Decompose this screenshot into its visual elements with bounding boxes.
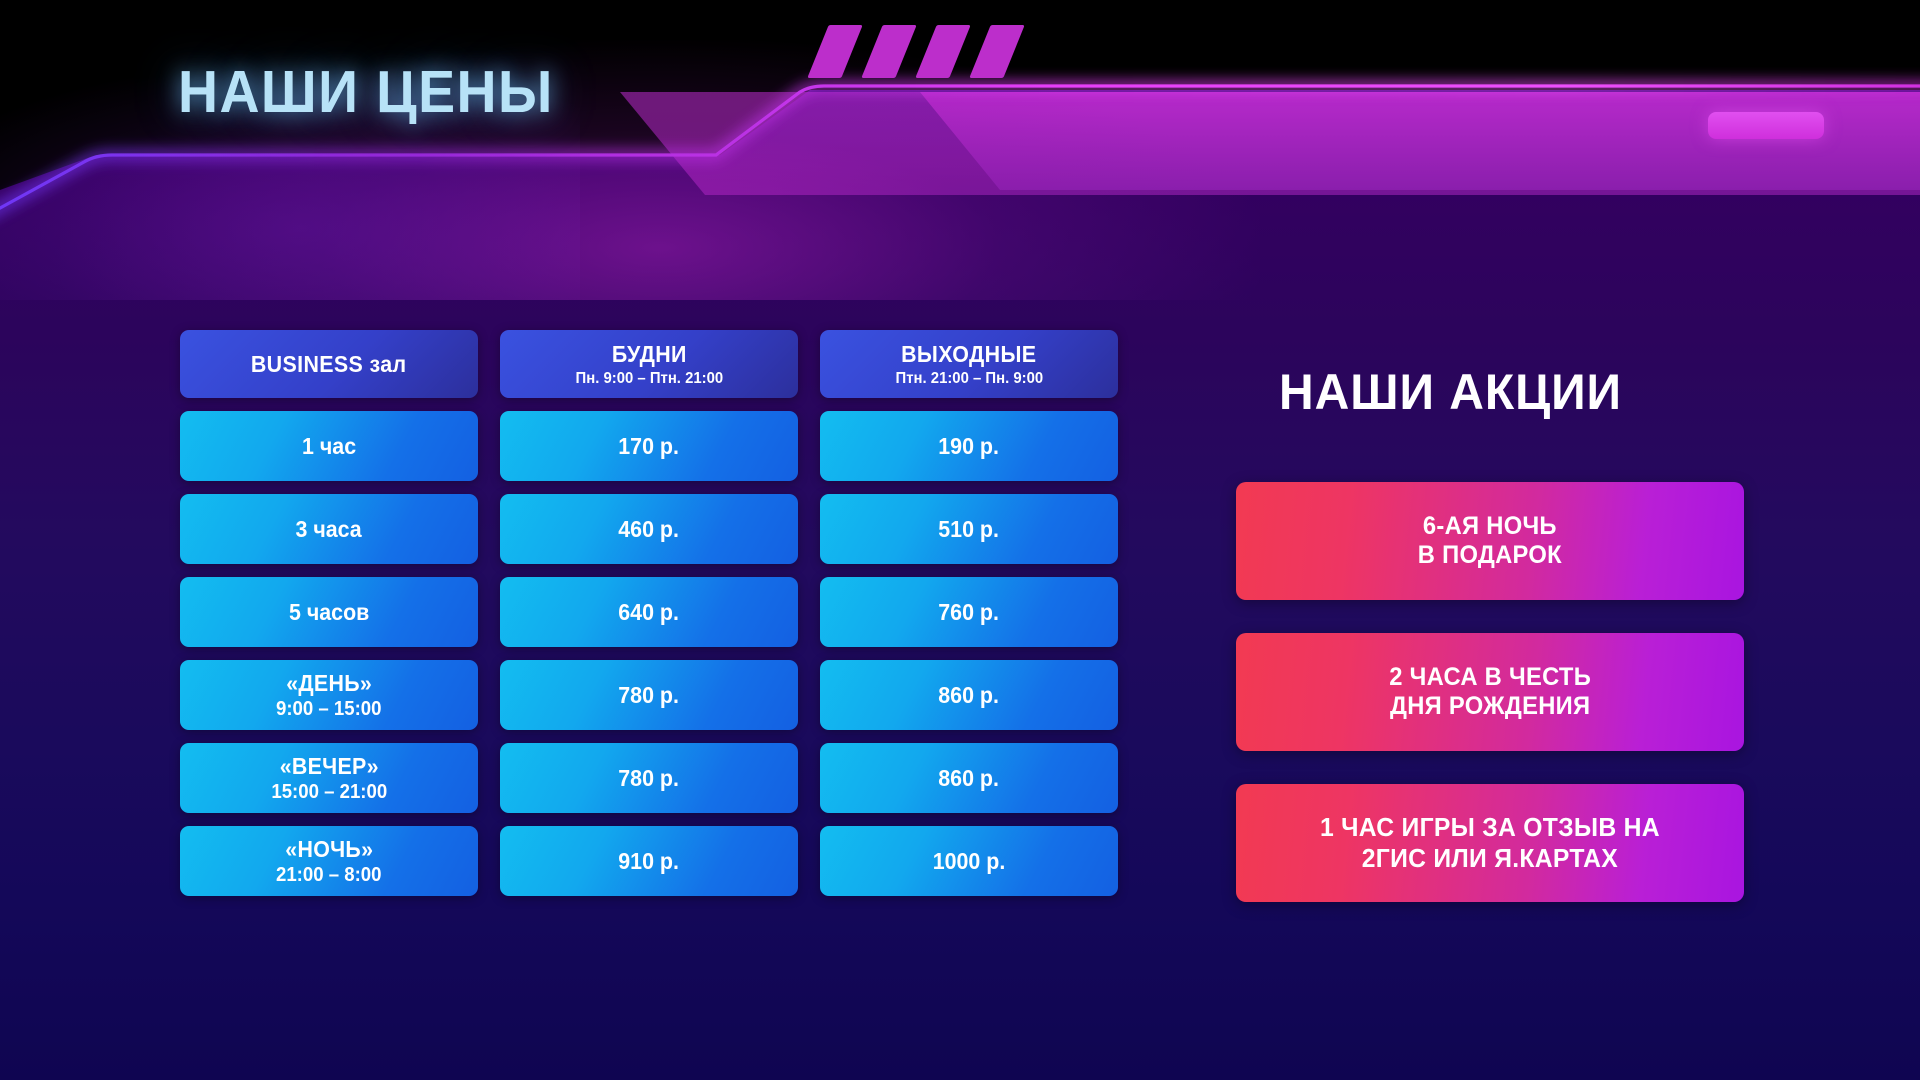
table-row: «ВЕЧЕР» 15:00 – 21:00 780 р. 860 р. bbox=[180, 743, 1115, 813]
row-label-cell: 1 час bbox=[180, 411, 478, 481]
grid-gap bbox=[798, 411, 820, 481]
row-label-time: 15:00 – 21:00 bbox=[271, 781, 387, 804]
row-weekday-price: 780 р. bbox=[619, 765, 680, 792]
row-weekday-price: 170 р. bbox=[619, 433, 680, 460]
row-weekend-cell: 760 р. bbox=[820, 577, 1118, 647]
row-label-time: 21:00 – 8:00 bbox=[276, 864, 381, 887]
row-weekend-price: 860 р. bbox=[939, 765, 1000, 792]
row-weekday-cell: 910 р. bbox=[500, 826, 798, 896]
grid-gap bbox=[478, 660, 500, 730]
grid-gap bbox=[798, 330, 820, 398]
grid-gap bbox=[798, 660, 820, 730]
promo-card-text: 2 ЧАСА В ЧЕСТЬ ДНЯ РОЖДЕНИЯ bbox=[1389, 663, 1591, 722]
grid-gap bbox=[798, 826, 820, 896]
row-weekday-cell: 780 р. bbox=[500, 743, 798, 813]
row-weekday-price: 460 р. bbox=[619, 516, 680, 543]
row-weekend-price: 860 р. bbox=[939, 682, 1000, 709]
row-label: «ВЕЧЕР» bbox=[279, 753, 378, 780]
promo-card: 1 ЧАС ИГРЫ ЗА ОТЗЫВ НА 2ГИС ИЛИ Я.КАРТАХ bbox=[1236, 784, 1744, 902]
row-label-cell: «НОЧЬ» 21:00 – 8:00 bbox=[180, 826, 478, 896]
grid-gap bbox=[478, 743, 500, 813]
table-row: «НОЧЬ» 21:00 – 8:00 910 р. 1000 р. bbox=[180, 826, 1115, 896]
promotions-list: 6-АЯ НОЧЬ В ПОДАРОК 2 ЧАСА В ЧЕСТЬ ДНЯ Р… bbox=[1236, 482, 1744, 935]
table-row: 5 часов 640 р. 760 р. bbox=[180, 577, 1115, 647]
header-cell-hall: BUSINESS зал bbox=[180, 330, 478, 398]
decor-stripe-icon bbox=[969, 25, 1024, 78]
grid-gap bbox=[478, 577, 500, 647]
grid-gap bbox=[798, 743, 820, 813]
row-weekend-price: 190 р. bbox=[939, 433, 1000, 460]
row-label-cell: 3 часа bbox=[180, 494, 478, 564]
row-weekday-price: 780 р. bbox=[619, 682, 680, 709]
row-label: 1 час bbox=[302, 433, 356, 460]
row-weekend-price: 510 р. bbox=[939, 516, 1000, 543]
price-table: BUSINESS зал БУДНИ Пн. 9:00 – Птн. 21:00… bbox=[180, 330, 1115, 909]
table-row: 3 часа 460 р. 510 р. bbox=[180, 494, 1115, 564]
row-label: 5 часов bbox=[289, 599, 369, 626]
grid-gap bbox=[798, 577, 820, 647]
grid-gap bbox=[478, 411, 500, 481]
decor-stripe-icon bbox=[807, 25, 862, 78]
row-weekday-cell: 780 р. bbox=[500, 660, 798, 730]
decor-stripe-icon bbox=[861, 25, 916, 78]
decor-stripe-icon bbox=[915, 25, 970, 78]
grid-gap bbox=[478, 494, 500, 564]
row-weekend-price: 1000 р. bbox=[933, 848, 1006, 875]
pricing-poster: НАШИ ЦЕНЫ BUSINESS зал БУДНИ Пн. 9:00 – … bbox=[0, 0, 1920, 1080]
header-hall-label: BUSINESS зал bbox=[251, 351, 407, 378]
row-weekend-cell: 190 р. bbox=[820, 411, 1118, 481]
header-weekday-hours: Пн. 9:00 – Птн. 21:00 bbox=[575, 370, 723, 388]
header-cell-weekend: ВЫХОДНЫЕ Птн. 21:00 – Пн. 9:00 bbox=[820, 330, 1118, 398]
row-label: 3 часа bbox=[296, 516, 362, 543]
header-weekday-label: БУДНИ bbox=[612, 341, 687, 368]
row-label-cell: 5 часов bbox=[180, 577, 478, 647]
table-row: 1 час 170 р. 190 р. bbox=[180, 411, 1115, 481]
row-label-cell: «ВЕЧЕР» 15:00 – 21:00 bbox=[180, 743, 478, 813]
row-weekend-cell: 1000 р. bbox=[820, 826, 1118, 896]
row-weekday-cell: 460 р. bbox=[500, 494, 798, 564]
row-weekend-price: 760 р. bbox=[939, 599, 1000, 626]
row-label: «ДЕНЬ» bbox=[286, 670, 372, 697]
promo-card: 6-АЯ НОЧЬ В ПОДАРОК bbox=[1236, 482, 1744, 600]
row-weekend-cell: 860 р. bbox=[820, 660, 1118, 730]
row-weekday-cell: 640 р. bbox=[500, 577, 798, 647]
price-table-header-row: BUSINESS зал БУДНИ Пн. 9:00 – Птн. 21:00… bbox=[180, 330, 1115, 398]
row-weekday-cell: 170 р. bbox=[500, 411, 798, 481]
header-cell-weekday: БУДНИ Пн. 9:00 – Птн. 21:00 bbox=[500, 330, 798, 398]
grid-gap bbox=[478, 330, 500, 398]
page-title: НАШИ ЦЕНЫ bbox=[178, 58, 554, 126]
promo-card: 2 ЧАСА В ЧЕСТЬ ДНЯ РОЖДЕНИЯ bbox=[1236, 633, 1744, 751]
promotions-title: НАШИ АКЦИИ bbox=[1279, 363, 1622, 421]
row-weekend-cell: 510 р. bbox=[820, 494, 1118, 564]
row-weekday-price: 910 р. bbox=[619, 848, 680, 875]
decor-pill-icon bbox=[1708, 112, 1824, 139]
header-weekend-hours: Птн. 21:00 – Пн. 9:00 bbox=[895, 370, 1043, 388]
promo-card-text: 1 ЧАС ИГРЫ ЗА ОТЗЫВ НА 2ГИС ИЛИ Я.КАРТАХ bbox=[1320, 812, 1660, 873]
row-label: «НОЧЬ» bbox=[285, 836, 373, 863]
table-row: «ДЕНЬ» 9:00 – 15:00 780 р. 860 р. bbox=[180, 660, 1115, 730]
grid-gap bbox=[478, 826, 500, 896]
row-label-time: 9:00 – 15:00 bbox=[276, 698, 381, 721]
row-weekend-cell: 860 р. bbox=[820, 743, 1118, 813]
row-label-cell: «ДЕНЬ» 9:00 – 15:00 bbox=[180, 660, 478, 730]
grid-gap bbox=[798, 494, 820, 564]
row-weekday-price: 640 р. bbox=[619, 599, 680, 626]
promo-card-text: 6-АЯ НОЧЬ В ПОДАРОК bbox=[1418, 512, 1562, 571]
header-weekend-label: ВЫХОДНЫЕ bbox=[901, 341, 1036, 368]
